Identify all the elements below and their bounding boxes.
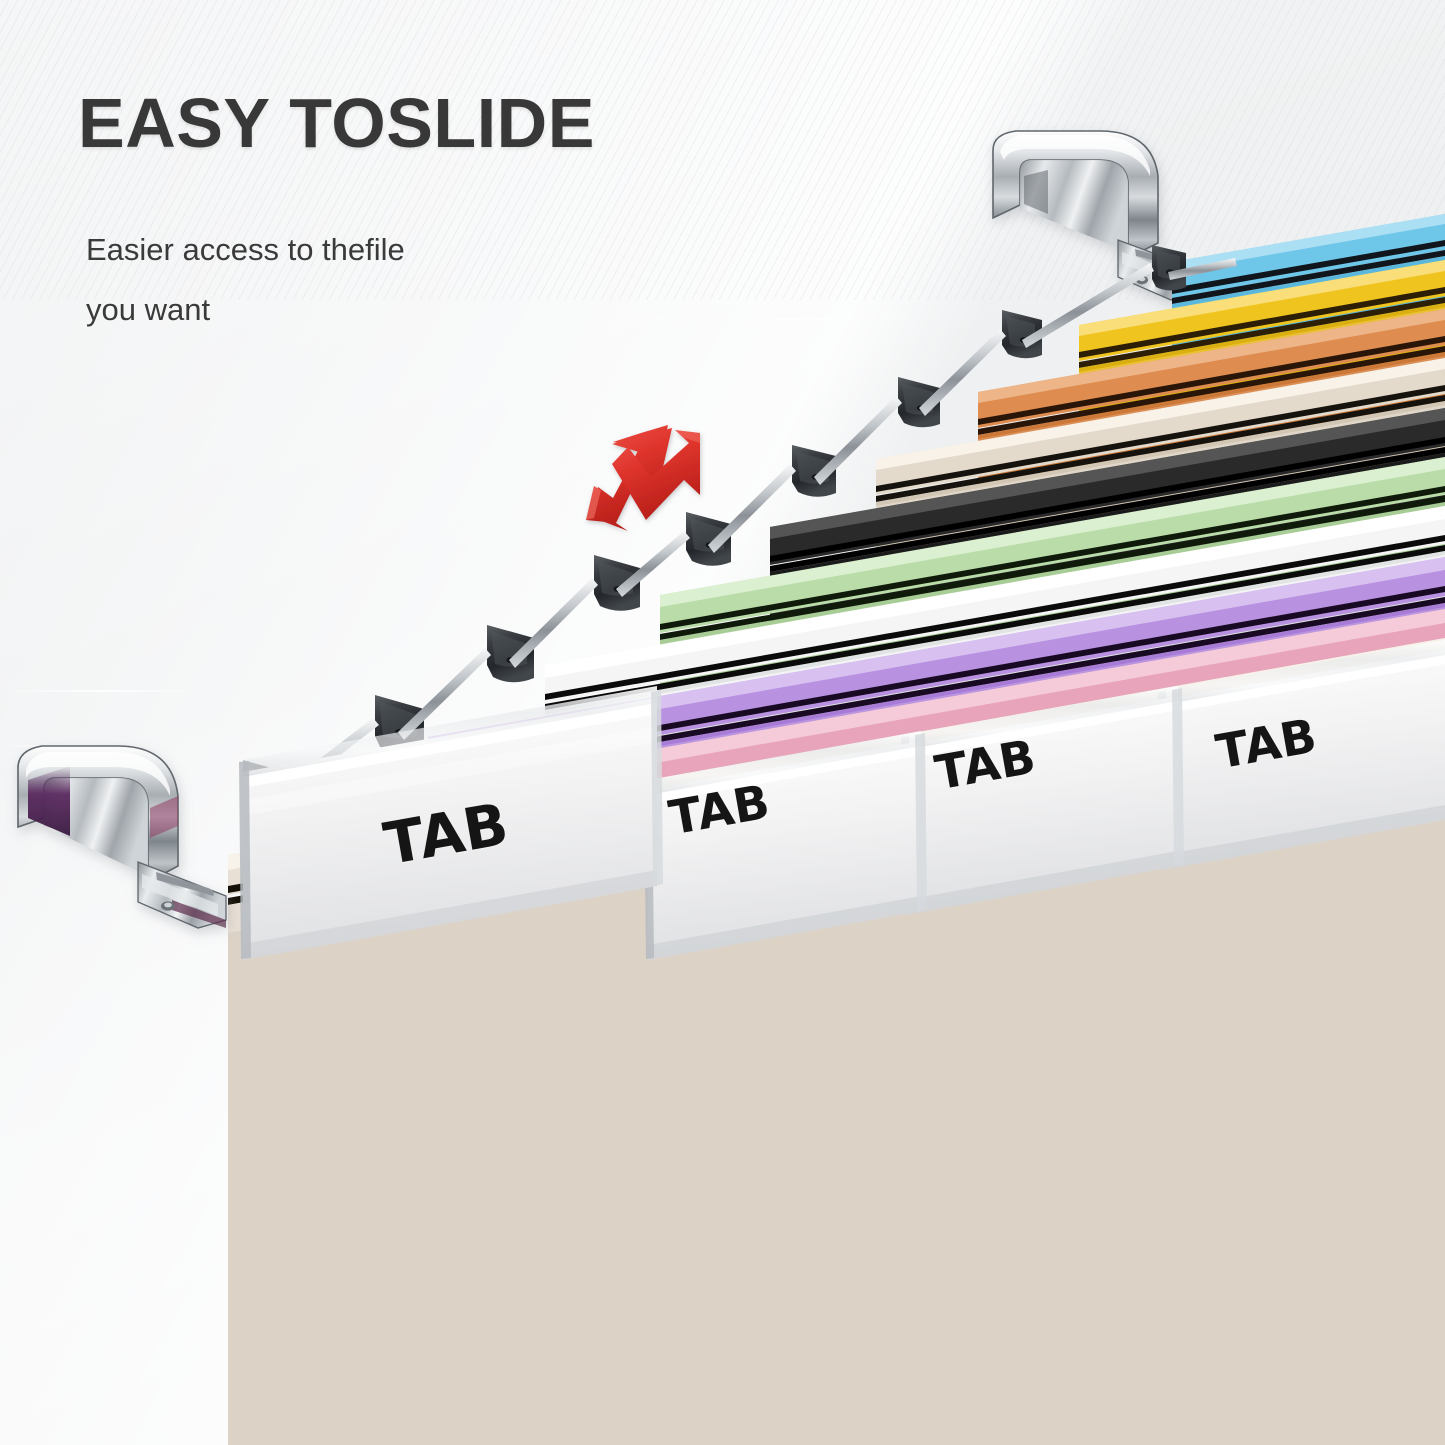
product-image-canvas: EASY TOSLIDE Easier access to thefile yo…	[0, 0, 1445, 1445]
subheading-line-1: Easier access to thefile	[86, 220, 595, 280]
metal-rail-rod	[509, 578, 598, 668]
subheading: Easier access to thefile you want	[86, 220, 595, 341]
page-title: EASY TOSLIDE	[78, 88, 595, 158]
subheading-line-2: you want	[86, 280, 595, 340]
metal-rail-rod	[616, 531, 690, 597]
marketing-copy-block: EASY TOSLIDE Easier access to thefile yo…	[78, 88, 595, 341]
rod-end-cap	[1152, 245, 1186, 291]
hanger-hook-front-left	[18, 746, 226, 928]
